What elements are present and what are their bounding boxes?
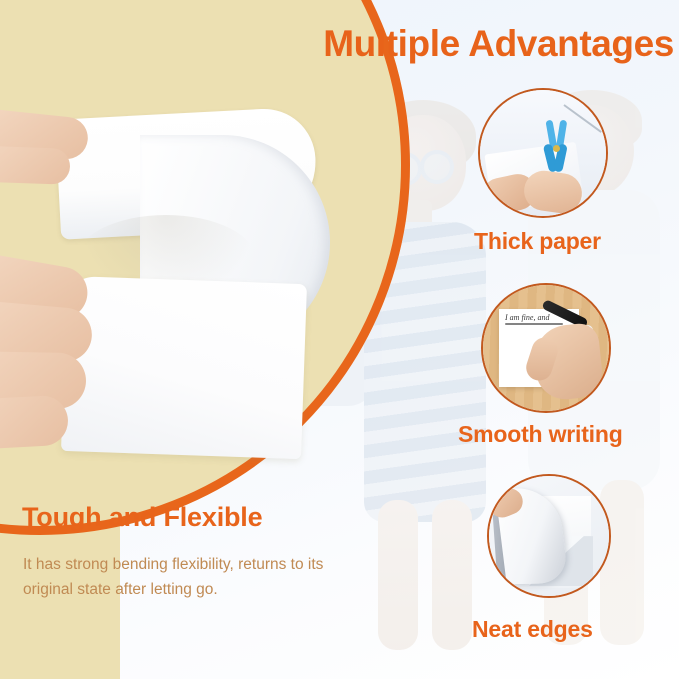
finger-thumb xyxy=(0,145,71,185)
feature-1-image-circle xyxy=(478,88,608,218)
hand-upper xyxy=(0,103,90,189)
feature-1-label: Thick paper xyxy=(474,228,601,255)
finger-4 xyxy=(0,395,69,452)
feature-2-label: Smooth writing xyxy=(458,421,623,448)
bent-paper-photo xyxy=(0,95,320,455)
feature-3-label: Neat edges xyxy=(472,616,593,643)
feature-2-image-circle: I am fine, and xyxy=(481,283,611,413)
handwriting-text: I am fine, and xyxy=(505,313,549,322)
left-feature-title: Tough and Flexible xyxy=(22,502,262,533)
child-center-leg-left xyxy=(378,500,418,650)
hand-lower xyxy=(0,260,108,450)
feature-3-image-circle xyxy=(487,474,611,598)
writing-line xyxy=(505,323,563,325)
infographic-canvas: Multiple Advantages Tough and Flexible I… xyxy=(0,0,679,679)
page-title: Multiple Advantages xyxy=(278,25,674,64)
glasses-lens-right-icon xyxy=(420,150,454,184)
left-feature-description: It has strong bending flexibility, retur… xyxy=(23,552,353,602)
child-center-leg-right xyxy=(432,500,472,650)
scissors-pivot-icon xyxy=(553,145,560,152)
